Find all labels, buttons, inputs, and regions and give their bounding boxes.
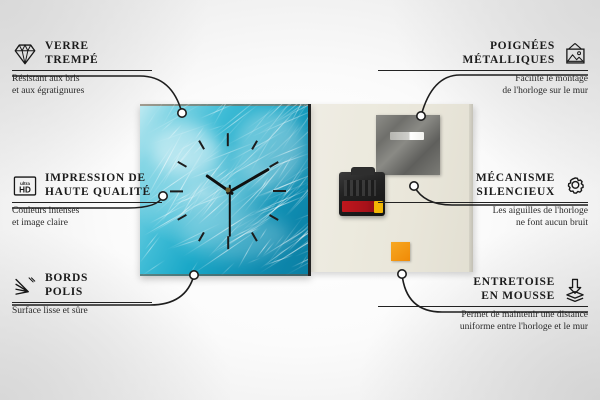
feature-divider <box>378 202 588 203</box>
feature-header: POIGNÉES MÉTALLIQUES <box>378 40 588 67</box>
feature-desc-line2: de l'horloge sur le mur <box>378 86 588 98</box>
feature-title: BORDS POLIS <box>45 272 88 299</box>
clock-minute-hand <box>226 168 270 195</box>
feature-header: ultra HD IMPRESSION DE HAUTE QUALITÉ <box>12 172 222 199</box>
mechanism-texture <box>344 180 376 196</box>
hanging-frame-icon <box>562 41 588 67</box>
svg-text:HD: HD <box>19 185 31 194</box>
clock-tick <box>251 140 258 150</box>
feature-desc-line1: Permet de maintenir une distance <box>378 310 588 322</box>
clock-tick <box>273 190 286 192</box>
feature-divider <box>378 70 588 71</box>
feature-entretoise-en-mousse[interactable]: ENTRETOISE EN MOUSSE Permet de maintenir… <box>378 276 588 333</box>
foam-spacer <box>391 242 410 261</box>
feature-bords-polis[interactable]: BORDS POLIS Surface lisse et sûre <box>12 272 222 318</box>
foam-spacer-icon <box>562 277 588 303</box>
feature-header: MÉCANISME SILENCIEUX <box>378 172 588 199</box>
feature-header: VERRE TREMPÉ <box>12 40 222 67</box>
feature-divider <box>12 302 152 303</box>
polished-edges-icon <box>12 273 38 299</box>
clock-tick <box>269 161 279 168</box>
clock-tick <box>198 140 205 150</box>
feature-poignees-metalliques[interactable]: POIGNÉES MÉTALLIQUES Facilite le montage… <box>378 40 588 97</box>
feature-verre-trempe[interactable]: VERRE TREMPÉ Résistant aux bris et aux é… <box>12 40 222 97</box>
feature-divider <box>12 202 162 203</box>
feature-header: ENTRETOISE EN MOUSSE <box>378 276 588 303</box>
clock-tick <box>269 214 279 221</box>
feature-title: VERRE TREMPÉ <box>45 40 98 67</box>
feature-desc-line1: Les aiguilles de l'horloge <box>378 206 588 218</box>
promo-infographic: VERRE TREMPÉ Résistant aux bris et aux é… <box>0 0 600 400</box>
clock-tick <box>227 133 229 146</box>
feature-mecanisme-silencieux[interactable]: MÉCANISME SILENCIEUX Les aiguilles de l'… <box>378 172 588 229</box>
feature-divider <box>378 306 588 307</box>
metal-plate-slot <box>390 132 424 140</box>
feature-title: MÉCANISME SILENCIEUX <box>378 172 555 199</box>
feature-desc-line2: et image claire <box>12 218 222 230</box>
clock-tick <box>177 161 187 168</box>
clock-tick <box>198 232 205 242</box>
feature-desc-line2: et aux égratignures <box>12 86 222 98</box>
feature-desc-line2: uniforme entre l'horloge et le mur <box>378 322 588 334</box>
feature-impression-haute-qualite[interactable]: ultra HD IMPRESSION DE HAUTE QUALITÉ Cou… <box>12 172 222 229</box>
feature-desc-line1: Couleurs intenses <box>12 206 222 218</box>
feature-divider <box>12 70 152 71</box>
feature-desc-line1: Facilite le montage <box>378 74 588 86</box>
feature-title: IMPRESSION DE HAUTE QUALITÉ <box>45 172 151 199</box>
clock-center-cap <box>226 188 231 193</box>
clock-second-hand <box>229 185 231 237</box>
feature-desc-line1: Résistant aux bris <box>12 74 222 86</box>
feature-title: ENTRETOISE EN MOUSSE <box>378 276 555 303</box>
feature-header: BORDS POLIS <box>12 272 222 299</box>
diamond-icon <box>12 41 38 67</box>
gear-icon <box>562 173 588 199</box>
feature-title: POIGNÉES MÉTALLIQUES <box>378 40 555 67</box>
mechanism-hook <box>351 167 375 175</box>
metal-hanging-plate <box>376 115 440 175</box>
feature-desc-line1: Surface lisse et sûre <box>12 306 222 318</box>
clock-tick <box>251 232 258 242</box>
clock-tick <box>227 236 229 249</box>
feature-desc-line2: ne font aucun bruit <box>378 218 588 230</box>
ultra-hd-icon: ultra HD <box>12 173 38 199</box>
